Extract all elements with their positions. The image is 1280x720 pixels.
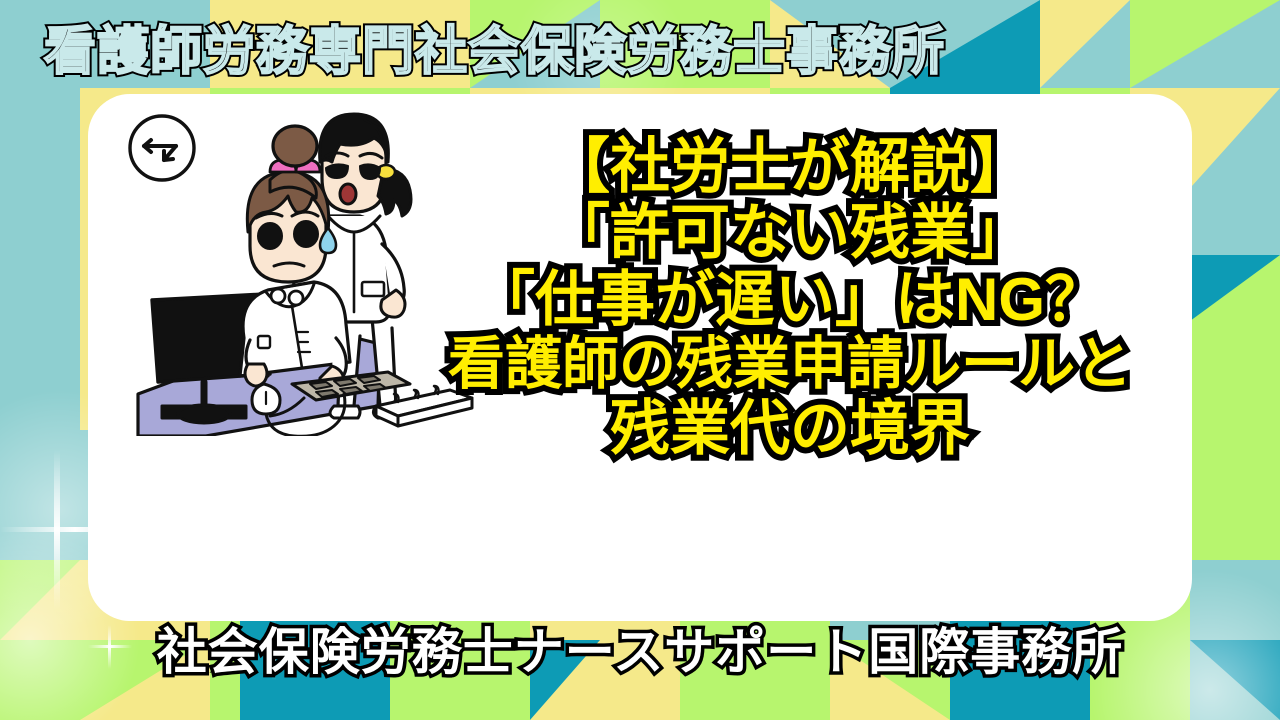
clock-icon: [130, 116, 194, 180]
title-line-4: 看護師の残業申請ルールと: [392, 335, 1188, 394]
title-line-2: 「許可ない残業」: [392, 202, 1188, 264]
header-title: 看護師労務専門社会保険労務士事務所: [44, 26, 945, 78]
title-line-1: 【社労士が解説】: [392, 136, 1188, 198]
footer-title: 社会保険労務士ナースサポート国際事務所: [0, 627, 1280, 677]
thumbnail-canvas: 看護師労務専門社会保険労務士事務所 看護師労務専門社会保険労務士事務所: [0, 0, 1280, 720]
title-line-3: 「仕事が遅い」はNG？: [392, 269, 1188, 331]
title-line-5: 残業代の境界: [392, 398, 1188, 460]
main-title: 【社労士が解説】 「許可ない残業」 「仕事が遅い」はNG？ 看護師の残業申請ルー…: [392, 136, 1188, 465]
